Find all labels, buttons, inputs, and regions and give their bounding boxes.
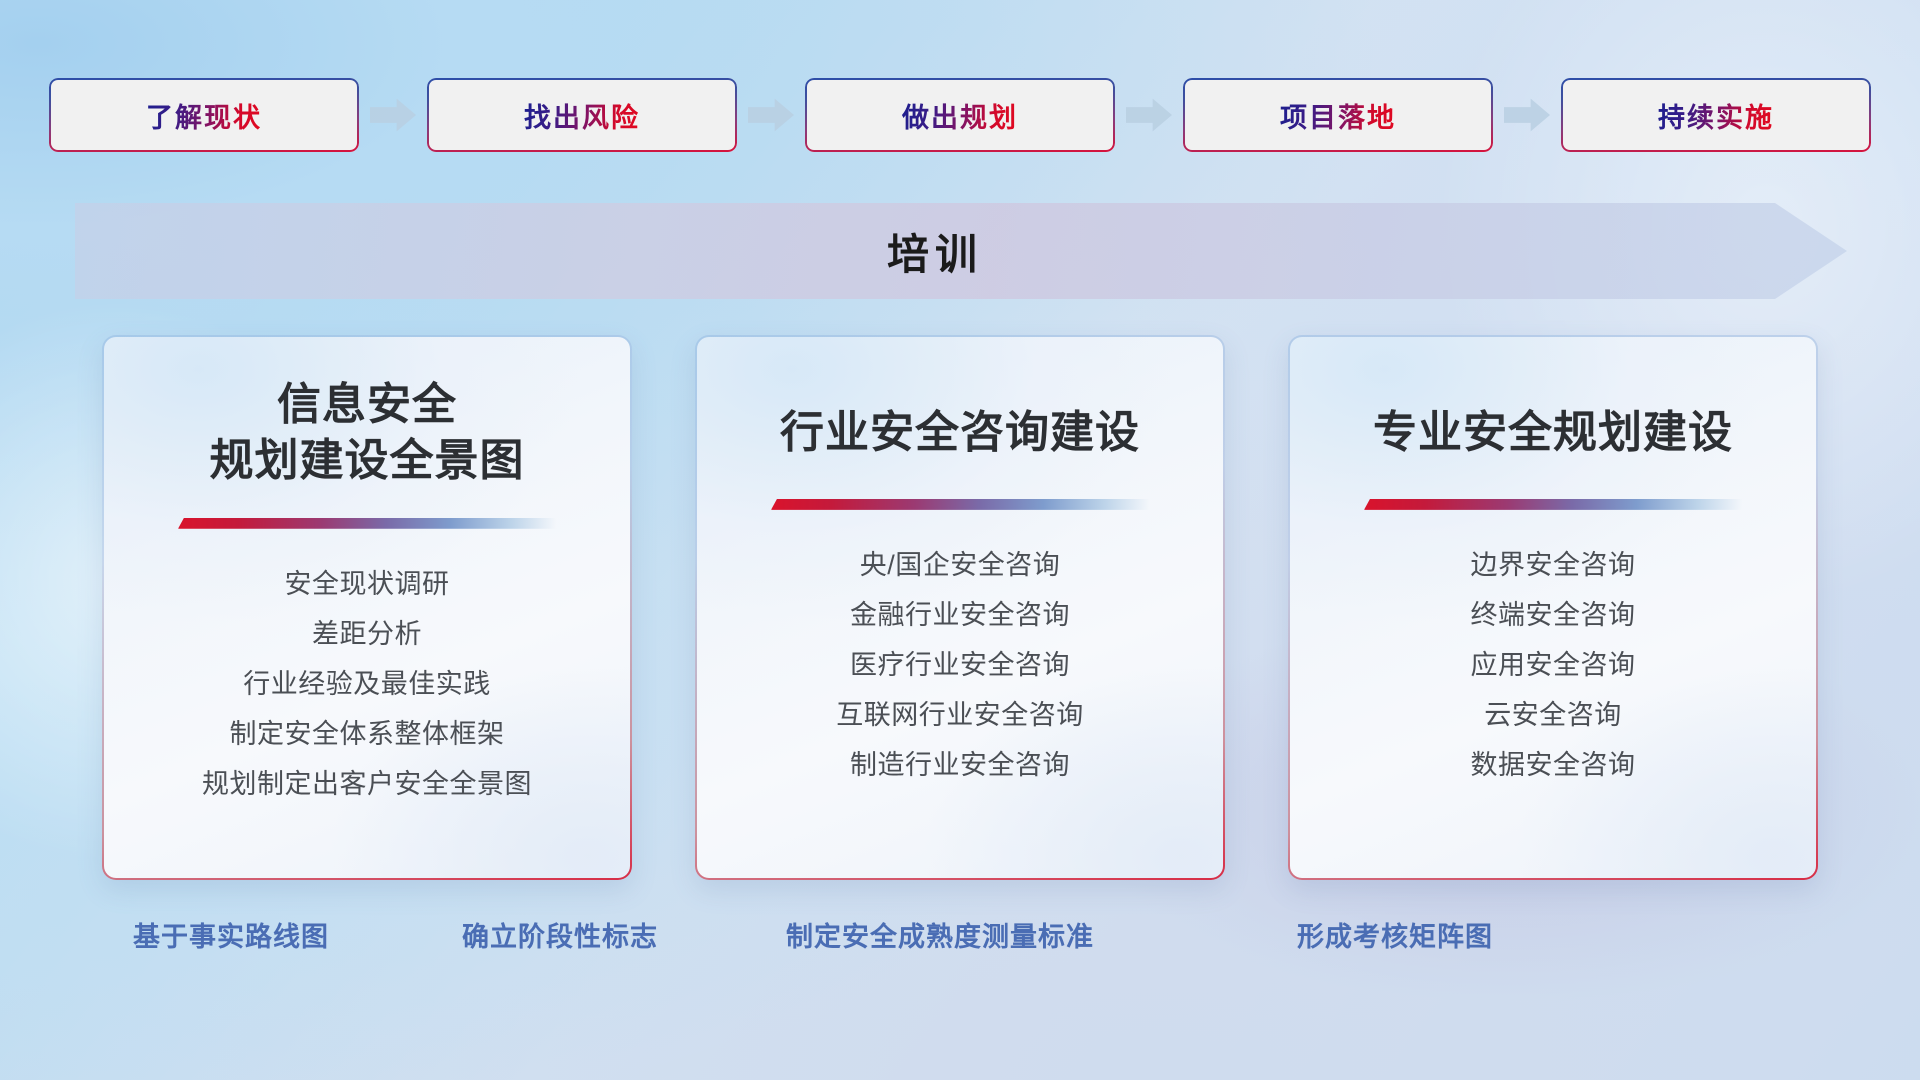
step-label: 项目落地 — [1280, 96, 1396, 135]
list-item: 边界安全咨询 — [1471, 540, 1636, 590]
card-title-line: 行业安全咨询建设 — [697, 405, 1223, 461]
step-label: 做出规划 — [902, 96, 1018, 135]
step-label: 找出风险 — [524, 96, 640, 135]
card-body: 专业安全规划建设边界安全咨询终端安全咨询应用安全咨询云安全咨询数据安全咨询 — [1290, 337, 1816, 878]
list-item: 互联网行业安全咨询 — [836, 690, 1084, 740]
card-divider-wrap — [697, 461, 1223, 510]
caption-row: 基于事实路线图确立阶段性标志制定安全成熟度测量标准形成考核矩阵图 — [0, 915, 1920, 965]
step-box-3[interactable]: 项目落地 — [1183, 78, 1493, 152]
card-item-list: 央/国企安全咨询金融行业安全咨询医疗行业安全咨询互联网行业安全咨询制造行业安全咨… — [697, 540, 1223, 790]
step-box-0[interactable]: 了解现状 — [49, 78, 359, 152]
arrow-right-icon — [370, 98, 416, 132]
list-item: 终端安全咨询 — [1471, 590, 1636, 640]
card-1[interactable]: 信息安全规划建设全景图安全现状调研差距分析行业经验及最佳实践制定安全体系整体框架… — [102, 335, 632, 880]
card-body: 行业安全咨询建设央/国企安全咨询金融行业安全咨询医疗行业安全咨询互联网行业安全咨… — [697, 337, 1223, 878]
card-title: 信息安全规划建设全景图 — [104, 377, 630, 489]
caption-1: 确立阶段性标志 — [462, 915, 658, 954]
step-box-inner: 找出风险 — [429, 80, 735, 150]
step-box-4[interactable]: 持续实施 — [1561, 78, 1871, 152]
card-title: 行业安全咨询建设 — [697, 405, 1223, 461]
card-3[interactable]: 专业安全规划建设边界安全咨询终端安全咨询应用安全咨询云安全咨询数据安全咨询 — [1288, 335, 1818, 880]
caption-0: 基于事实路线图 — [133, 915, 329, 954]
card-item-list: 边界安全咨询终端安全咨询应用安全咨询云安全咨询数据安全咨询 — [1290, 540, 1816, 790]
caption-2: 制定安全成熟度测量标准 — [786, 915, 1094, 954]
card-divider-wrap — [1290, 461, 1816, 510]
card-title-line: 信息安全 — [104, 377, 630, 433]
arrow-right-icon — [1504, 98, 1550, 132]
card-body: 信息安全规划建设全景图安全现状调研差距分析行业经验及最佳实践制定安全体系整体框架… — [104, 337, 630, 878]
card-divider — [771, 499, 1149, 510]
process-step-flow: 了解现状找出风险做出规划项目落地持续实施 — [0, 78, 1920, 152]
list-item: 金融行业安全咨询 — [850, 590, 1070, 640]
list-item: 制造行业安全咨询 — [850, 740, 1070, 790]
step-box-inner: 项目落地 — [1185, 80, 1491, 150]
step-box-1[interactable]: 找出风险 — [427, 78, 737, 152]
list-item: 制定安全体系整体框架 — [230, 709, 505, 759]
card-divider — [178, 518, 556, 529]
card-divider — [1364, 499, 1742, 510]
list-item: 央/国企安全咨询 — [860, 540, 1061, 590]
arrow-right-icon — [748, 98, 794, 132]
card-title-line: 专业安全规划建设 — [1290, 405, 1816, 461]
list-item: 行业经验及最佳实践 — [243, 659, 491, 709]
list-item: 数据安全咨询 — [1471, 740, 1636, 790]
step-box-inner: 做出规划 — [807, 80, 1113, 150]
card-2[interactable]: 行业安全咨询建设央/国企安全咨询金融行业安全咨询医疗行业安全咨询互联网行业安全咨… — [695, 335, 1225, 880]
step-box-2[interactable]: 做出规划 — [805, 78, 1115, 152]
step-box-inner: 持续实施 — [1563, 80, 1869, 150]
list-item: 应用安全咨询 — [1471, 640, 1636, 690]
step-label: 了解现状 — [146, 96, 262, 135]
card-divider-wrap — [104, 489, 630, 529]
list-item: 规划制定出客户安全全景图 — [202, 759, 532, 809]
caption-3: 形成考核矩阵图 — [1297, 915, 1493, 954]
card-group: 信息安全规划建设全景图安全现状调研差距分析行业经验及最佳实践制定安全体系整体框架… — [0, 335, 1920, 880]
list-item: 安全现状调研 — [285, 559, 450, 609]
card-title-line: 规划建设全景图 — [104, 433, 630, 489]
list-item: 云安全咨询 — [1484, 690, 1622, 740]
step-label: 持续实施 — [1658, 96, 1774, 135]
list-item: 差距分析 — [312, 609, 422, 659]
card-item-list: 安全现状调研差距分析行业经验及最佳实践制定安全体系整体框架规划制定出客户安全全景… — [104, 559, 630, 809]
card-title: 专业安全规划建设 — [1290, 405, 1816, 461]
arrow-right-icon — [1126, 98, 1172, 132]
training-banner-label: 培训 — [887, 221, 983, 282]
training-banner: 培训 — [75, 203, 1847, 299]
step-box-inner: 了解现状 — [51, 80, 357, 150]
list-item: 医疗行业安全咨询 — [850, 640, 1070, 690]
